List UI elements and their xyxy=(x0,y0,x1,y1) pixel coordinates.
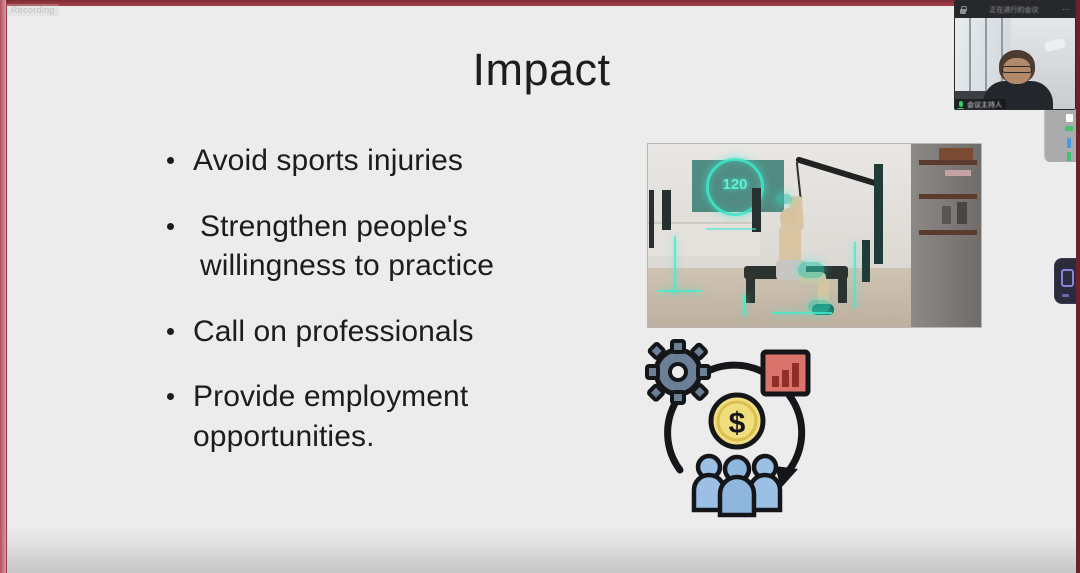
photo-speaker xyxy=(752,188,761,232)
photo-bench-leg xyxy=(838,277,847,303)
home-gym-ar-photo: 120 xyxy=(647,143,982,328)
ar-guide-line xyxy=(744,294,746,316)
photo-bench-leg xyxy=(746,277,755,303)
bullet-dot-icon xyxy=(167,328,174,335)
photo-shelf-item xyxy=(942,206,951,224)
sidebar-chip-icon xyxy=(1067,152,1071,161)
ar-highlight xyxy=(808,300,830,312)
more-options-icon[interactable]: ⋯ xyxy=(1062,6,1070,14)
page-title: Impact xyxy=(7,44,1076,96)
edge-app-tile[interactable] xyxy=(1054,258,1076,304)
photo-shelf-item xyxy=(957,202,967,224)
photo-shelf xyxy=(919,230,977,235)
video-panel-title: 正在进行的会议 xyxy=(971,5,1057,15)
photo-pillar xyxy=(862,240,870,282)
economic-cycle-infographic: $ xyxy=(637,338,837,533)
list-item-label: Avoid sports injuries xyxy=(193,141,463,181)
participant-name-bar: 会议主持人 xyxy=(955,99,1006,110)
bar-chart-panel-icon xyxy=(763,352,808,394)
video-tile[interactable]: 会议主持人 xyxy=(955,18,1076,110)
photo-shelf xyxy=(919,160,977,165)
list-item: Avoid sports injuries xyxy=(167,141,597,181)
video-panel-header[interactable]: 正在进行的会议 ⋯ xyxy=(955,1,1075,18)
window-mullion xyxy=(985,18,987,91)
sidebar-fragment[interactable] xyxy=(1044,110,1076,162)
list-item: Strengthen people's willingness to pract… xyxy=(167,207,597,286)
microphone-icon xyxy=(957,101,964,110)
photo-shelf xyxy=(919,194,977,199)
presentation-slide: Impact Avoid sports injuries Strengthen … xyxy=(7,6,1076,535)
frame-border-right xyxy=(1076,0,1080,573)
sidebar-chip-icon xyxy=(1067,138,1071,148)
gear-icon xyxy=(647,341,709,403)
app-tile-icon xyxy=(1061,269,1074,287)
ar-guide-line xyxy=(772,312,832,314)
list-item: Provide employment opportunities. xyxy=(167,377,597,456)
bullet-list: Avoid sports injuries Strengthen people'… xyxy=(167,141,597,483)
people-group-icon xyxy=(694,456,780,515)
photo-frame xyxy=(939,148,973,160)
photo-cable-machine-post xyxy=(874,164,883,264)
participant-video-panel[interactable]: 正在进行的会议 ⋯ 会议主持人 xyxy=(954,0,1076,110)
list-item: Call on professionals xyxy=(167,312,597,352)
list-item-label: Strengthen people's willingness to pract… xyxy=(193,207,494,286)
glasses-icon xyxy=(1002,66,1032,73)
window-mullion xyxy=(969,18,971,91)
svg-text:$: $ xyxy=(729,407,746,440)
bullet-dot-icon xyxy=(167,223,174,230)
ar-highlight xyxy=(798,262,824,278)
frame-border-left xyxy=(0,0,6,573)
app-tile-badge xyxy=(1062,294,1069,297)
sidebar-chip-icon xyxy=(1065,126,1073,131)
capture-bottom-band xyxy=(7,528,1076,573)
list-item-label: Call on professionals xyxy=(193,312,474,352)
recording-label: Recording xyxy=(7,4,59,16)
bullet-dot-icon xyxy=(167,157,174,164)
photo-pillar xyxy=(649,190,654,248)
participant-name: 会议主持人 xyxy=(967,100,1002,110)
photo-speaker xyxy=(662,190,671,230)
sidebar-chip-icon xyxy=(1066,114,1073,122)
cycle-arc-top xyxy=(701,365,768,375)
ar-guide-line xyxy=(854,242,856,308)
photo-shelf-item xyxy=(945,170,971,176)
ar-guide-line xyxy=(674,236,676,294)
screen-share-frame: Impact Avoid sports injuries Strengthen … xyxy=(0,0,1080,573)
list-item-label: Provide employment opportunities. xyxy=(193,377,468,456)
ar-guide-line xyxy=(658,290,702,292)
dollar-coin-icon: $ xyxy=(711,395,763,447)
ar-guide-line xyxy=(706,228,756,230)
ar-highlight xyxy=(776,194,792,204)
bullet-dot-icon xyxy=(167,393,174,400)
lock-icon xyxy=(960,6,966,14)
cycle-arc-left xyxy=(668,400,680,470)
cycle-arc-right xyxy=(783,395,802,477)
